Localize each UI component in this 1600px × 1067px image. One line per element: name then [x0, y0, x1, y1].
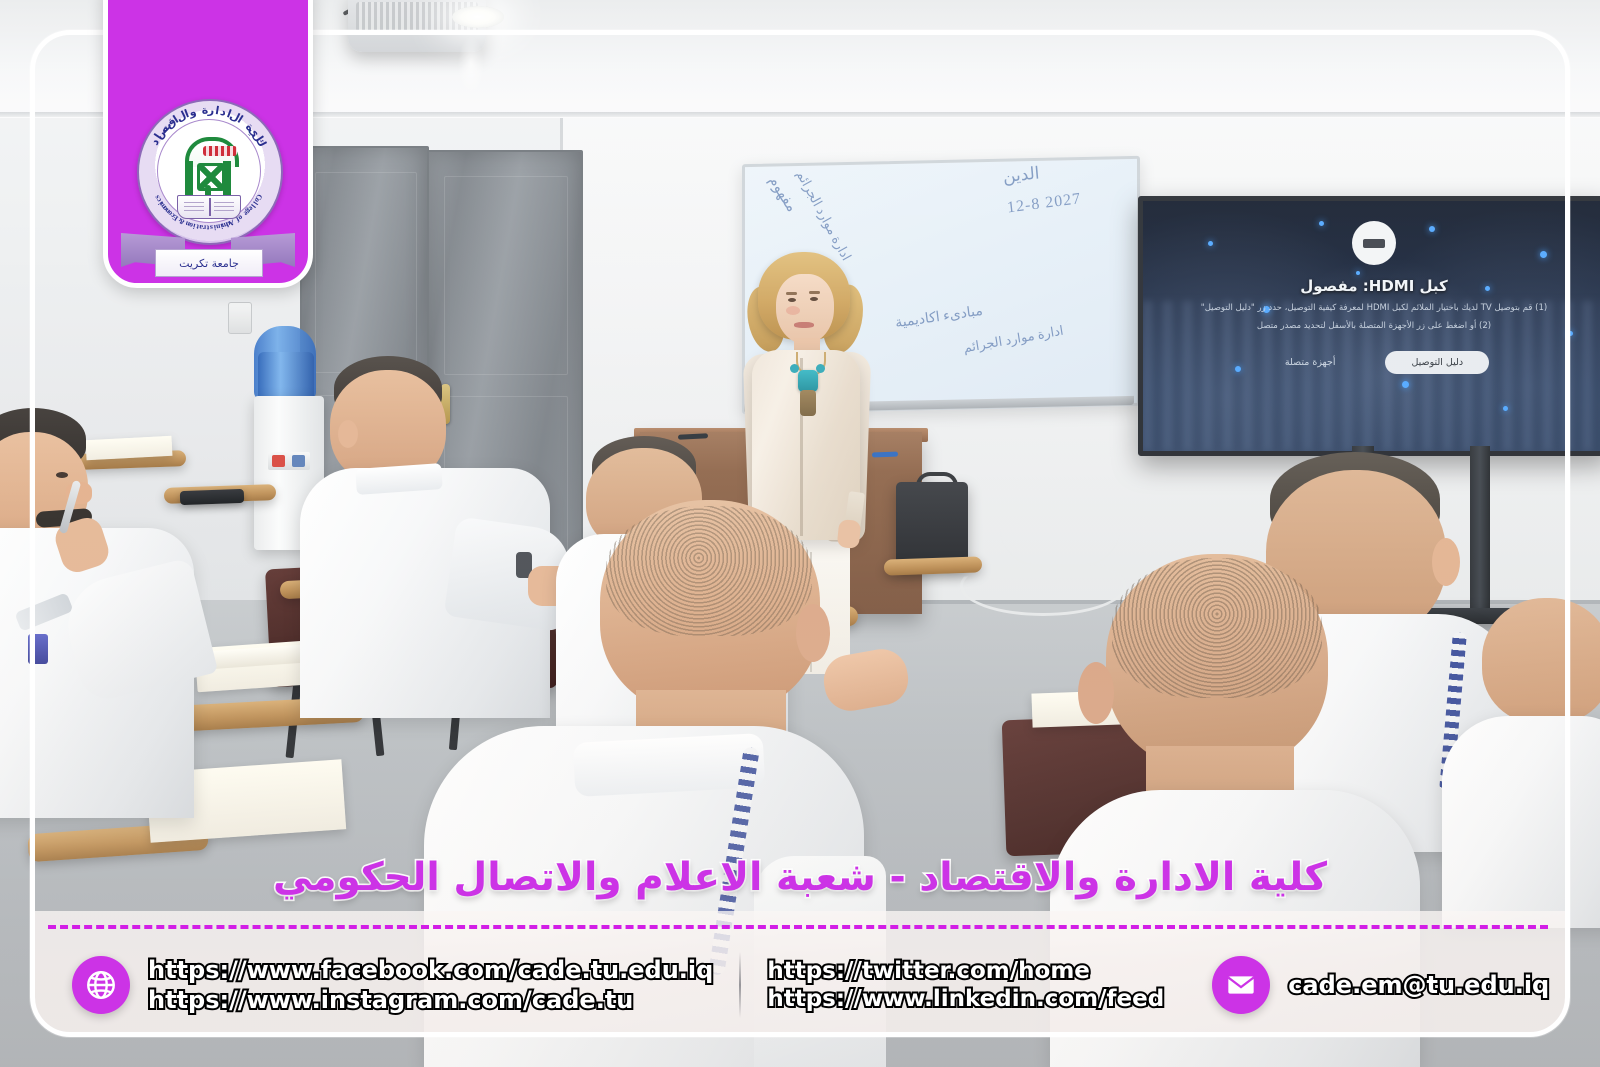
poster: مفهوم ادارة موارد الجرائم الدين 12-8 202… — [0, 0, 1600, 1067]
linkedin-url[interactable]: https://www.linkedin.com/feed — [767, 986, 1164, 1012]
footer-contact-bar: https://www.facebook.com/cade.tu.edu.iq … — [34, 911, 1566, 1033]
light-switch — [228, 302, 252, 334]
desk-arm — [884, 556, 982, 575]
social-url-list: https://www.facebook.com/cade.tu.edu.iq … — [148, 956, 713, 1014]
footer-divider — [739, 952, 741, 1018]
downlight-glow — [458, 36, 484, 94]
tv-instruction-2: (2) أو اضغط على زر الأجهزة المتصلة بالأس… — [1171, 319, 1578, 333]
attendee-seated — [0, 406, 224, 806]
whiteboard-note-right: الدين — [1002, 163, 1040, 187]
tv-title: كبل HDMI: مفصول — [1143, 277, 1600, 295]
footer-social-group: https://www.facebook.com/cade.tu.edu.iq … — [72, 956, 713, 1014]
tv-connect-guide-button[interactable]: دليل التوصيل — [1385, 351, 1489, 374]
instagram-url[interactable]: https://www.instagram.com/cade.tu — [148, 986, 713, 1014]
footer-row: https://www.facebook.com/cade.tu.edu.iq … — [34, 937, 1566, 1033]
logo-arch-emblem — [177, 137, 239, 203]
logo-open-book — [177, 195, 241, 219]
email-address[interactable]: cade.em@tu.edu.iq — [1288, 971, 1549, 999]
necklace-pendant — [798, 370, 818, 392]
twitter-url[interactable]: https://twitter.com/home — [767, 958, 1164, 984]
footer-social-group: https://twitter.com/home https://www.lin… — [767, 958, 1164, 1012]
envelope-icon[interactable] — [1212, 956, 1270, 1014]
page-title: كلية الادارة والاقتصاد - شعبة الاعلام وا… — [0, 856, 1600, 901]
whiteboard-note-left2: ادارة موارد الجرائم — [793, 167, 855, 263]
logo-ribbon: جامعة تكريت — [121, 233, 295, 279]
footer-dashed-divider — [48, 925, 1548, 929]
tv-button-row: دليل التوصيل أجهزة متصلة — [1143, 351, 1600, 374]
whiteboard-note-mid: مبادىء اكاديمية — [894, 303, 983, 332]
whiteboard-date: 12-8 2027 — [1006, 190, 1082, 217]
social-url-list: https://twitter.com/home https://www.lin… — [767, 958, 1164, 1012]
globe-icon[interactable] — [72, 956, 130, 1014]
presenter-face — [776, 274, 834, 344]
logo-banner: كلية الادارة والاقتصاد College of Admini… — [103, 0, 313, 288]
laptop-bag — [896, 482, 968, 568]
footer-email-group: cade.em@tu.edu.iq — [1212, 956, 1549, 1014]
college-logo: كلية الادارة والاقتصاد College of Admini… — [115, 97, 301, 279]
tv-instruction-1: (1) قم بتوصيل TV لديك باختيار الملائم لك… — [1171, 301, 1578, 315]
university-name: جامعة تكريت — [179, 257, 239, 270]
tv-connected-devices-button[interactable]: أجهزة متصلة — [1259, 351, 1362, 374]
hdmi-port-icon — [1352, 221, 1396, 265]
tv-display: كبل HDMI: مفصول (1) قم بتوصيل TV لديك با… — [1138, 196, 1600, 456]
ceiling-downlight — [452, 6, 504, 28]
whiteboard-note-mid2: ادارة موارد الجرائم — [962, 323, 1064, 357]
facebook-url[interactable]: https://www.facebook.com/cade.tu.edu.iq — [148, 956, 713, 984]
